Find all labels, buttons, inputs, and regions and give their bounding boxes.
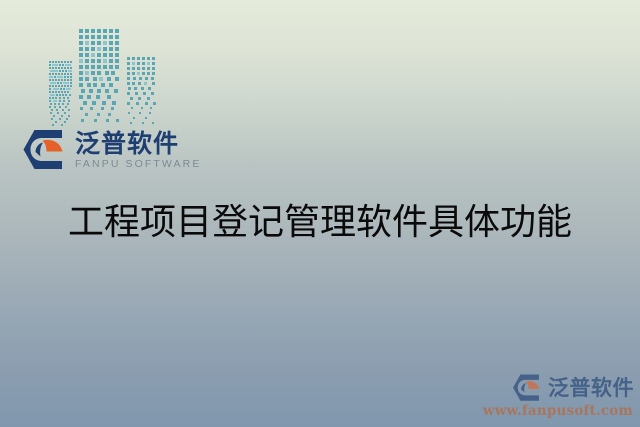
page-title: 工程项目登记管理软件具体功能 — [0, 200, 640, 246]
watermark-logo-row: 泛普软件 — [512, 373, 634, 403]
watermark-url: www.fanpusoft.com — [483, 403, 633, 419]
brand-name-cn: 泛普软件 — [75, 130, 201, 157]
fanpusoft-watermark: 泛普软件 www.fanpusoft.com — [482, 373, 634, 419]
fanpu-logo-mark-icon — [22, 128, 68, 172]
fanpu-software-logo: 泛普软件 FANPU SOFTWARE — [22, 128, 201, 172]
watermark-brand-cn: 泛普软件 — [548, 377, 634, 400]
pixel-skyline-graphic — [48, 26, 158, 128]
skyline-icon — [48, 26, 158, 128]
watermark-logo-mark-icon — [512, 373, 543, 403]
slide-canvas: 泛普软件 FANPU SOFTWARE 工程项目登记管理软件具体功能 泛普软件 … — [0, 0, 640, 427]
brand-name-en: FANPU SOFTWARE — [75, 158, 201, 171]
fanpu-wordmark: 泛普软件 FANPU SOFTWARE — [75, 129, 201, 171]
